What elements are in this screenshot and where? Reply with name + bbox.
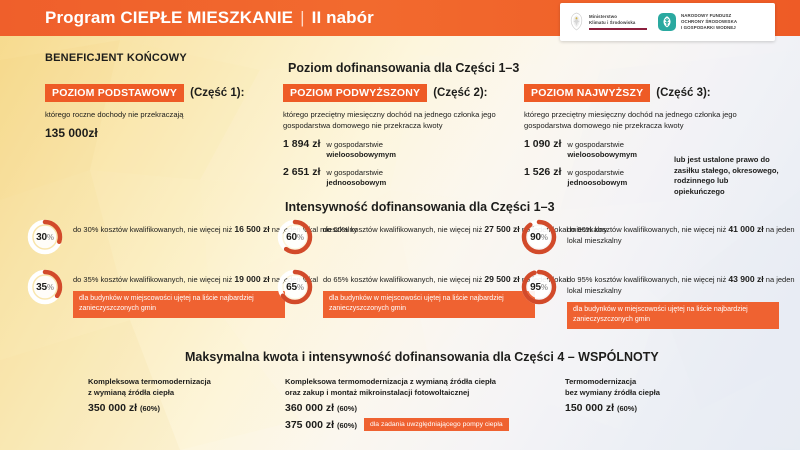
level3-amount-multi: 1 090 zł xyxy=(524,138,561,150)
intensity-text-95-pre: do 95% kosztów kwalifikowanych, nie więc… xyxy=(567,275,728,284)
part4-b-line1: Kompleksowa termomodernizacja z wymianą … xyxy=(285,376,555,387)
level2-single-line1: w gospodarstwie xyxy=(326,168,383,177)
level1-part-label: (Część 1): xyxy=(190,87,244,99)
level3-amount-row-multi: 1 090 zł w gospodarstwie wieloosobowymym xyxy=(524,138,674,159)
donut-chart-35: 35% xyxy=(26,268,64,306)
level3-multi-line1: w gospodarstwie xyxy=(567,140,624,149)
part4-b-amount1: 360 000 zł xyxy=(285,402,334,414)
nfosigw-tree-icon xyxy=(657,11,677,33)
part4-a-line1: Kompleksowa termomodernizacja xyxy=(88,376,278,387)
intensity-text-30-pre: do 30% kosztów kwalifikowanych, nie więc… xyxy=(73,225,234,234)
level2-multi-line1: w gospodarstwie xyxy=(326,140,383,149)
level3-alternative-note: lub jest ustalone prawo do zasiłku stałe… xyxy=(674,131,779,197)
donut-chart-60: 60% xyxy=(276,218,314,256)
level2-amount-single: 2 651 zł xyxy=(283,166,320,178)
level2-amount-multi-label: w gospodarstwie wieloosobowymym xyxy=(326,138,396,159)
level3-description: którego przeciętny miesięczny dochód na … xyxy=(524,110,779,131)
level3-amount-single: 1 526 zł xyxy=(524,166,561,178)
level3-badge-row: POZIOM NAJWYŻSZY(Część 3): xyxy=(524,84,779,102)
intensity-text-90: do 90% kosztów kwalifikowanych, nie więc… xyxy=(567,218,800,246)
part4-c-line1: Termomodernizacja xyxy=(565,376,765,387)
donut-value-65: 65 xyxy=(286,282,297,293)
donut-label-30: 30% xyxy=(26,218,64,256)
level3-badge: POZIOM NAJWYŻSZY xyxy=(524,84,650,102)
nfosigw-logo-block: NARODOWY FUNDUSZ OCHRONY ŚRODOWISKA I GO… xyxy=(657,11,737,33)
level2-multi-line2: wieloosobowymym xyxy=(326,150,396,159)
part4-b-value2: 375 000 zł (60%) xyxy=(285,419,357,431)
donut-chart-95: 95% xyxy=(520,268,558,306)
intensity-text-30-amount: 16 500 zł xyxy=(234,224,269,234)
intensity-tag-95: dla budynków w miejscowości ujętej na li… xyxy=(567,302,779,329)
beneficiary-heading: BENEFICJENT KOŃCOWY xyxy=(45,52,187,64)
level3-part-label: (Część 3): xyxy=(656,87,710,99)
donut-sign-30: % xyxy=(47,233,54,242)
donut-value-60: 60 xyxy=(286,232,297,243)
level2-amount-row-multi: 1 894 zł w gospodarstwie wieloosobowymym xyxy=(283,138,521,159)
donut-label-95: 95% xyxy=(520,268,558,306)
part4-a-percent: (60%) xyxy=(140,404,160,413)
part4-b-heatpump-tag: dla zadania uwzględniającego pompy ciepł… xyxy=(364,418,509,431)
donut-sign-90: % xyxy=(541,233,548,242)
part4-b-percent2: (60%) xyxy=(337,421,357,430)
ministry-logo-rule xyxy=(589,28,647,30)
level-column-part2: POZIOM PODWYŻSZONY(Część 2): którego prz… xyxy=(283,84,521,187)
intensity-text-90-pre: do 90% kosztów kwalifikowanych, nie więc… xyxy=(567,225,728,234)
level1-amount: 135 000zł xyxy=(45,126,280,140)
polish-eagle-icon xyxy=(568,11,585,33)
ministry-logo-line2: Klimatu i Środowiska xyxy=(589,20,647,26)
donut-value-35: 35 xyxy=(36,282,47,293)
header-title-main: Program CIEPŁE MIESZKANIE xyxy=(45,8,293,27)
part4-column-b: Kompleksowa termomodernizacja z wymianą … xyxy=(285,376,555,431)
level2-single-line2: jednoosobowym xyxy=(326,178,386,187)
part4-b-percent1: (60%) xyxy=(337,404,357,413)
donut-label-60: 60% xyxy=(276,218,314,256)
level2-amount-multi: 1 894 zł xyxy=(283,138,320,150)
section-title-intensity: Intensywność dofinansowania dla Części 1… xyxy=(285,200,555,214)
section-title-levels: Poziom dofinansowania dla Części 1–3 xyxy=(288,61,519,75)
level2-description: którego przeciętny miesięczny dochód na … xyxy=(283,110,521,131)
donut-chart-65: 65% xyxy=(276,268,314,306)
level2-amount-row-single: 2 651 zł w gospodarstwie jednoosobowym xyxy=(283,166,521,187)
level1-description: którego roczne dochody nie przekraczają xyxy=(45,110,280,121)
page-title: Program CIEPŁE MIESZKANIE|II nabór xyxy=(45,8,374,28)
donut-sign-95: % xyxy=(541,283,548,292)
nfosigw-logo-line3: I GOSPODARKI WODNEJ xyxy=(681,25,737,31)
level3-single-line2: jednoosobowym xyxy=(567,178,627,187)
donut-sign-60: % xyxy=(297,233,304,242)
part4-c-line2: bez wymiany źródła ciepła xyxy=(565,387,765,398)
intensity-text-60-pre: do 60% kosztów kwalifikowanych, nie więc… xyxy=(323,225,484,234)
level-column-part1: POZIOM PODSTAWOWY(Część 1): którego rocz… xyxy=(45,84,280,140)
header-title-separator: | xyxy=(293,8,312,28)
intensity-text-35-amount: 19 000 zł xyxy=(234,274,269,284)
intensity-text-95: do 95% kosztów kwalifikowanych, nie więc… xyxy=(567,268,800,329)
donut-label-35: 35% xyxy=(26,268,64,306)
donut-label-65: 65% xyxy=(276,268,314,306)
donut-chart-90: 90% xyxy=(520,218,558,256)
section-title-part4: Maksymalna kwota i intensywność dofinans… xyxy=(185,350,659,364)
part4-b-value2-row: 375 000 zł (60%) dla zadania uwzględniaj… xyxy=(285,418,555,431)
intensity-tag-65: dla budynków w miejscowości ujętej na li… xyxy=(323,291,535,318)
part4-b-amount2: 375 000 zł xyxy=(285,419,334,431)
part4-a-value: 350 000 zł (60%) xyxy=(88,402,278,414)
donut-sign-65: % xyxy=(297,283,304,292)
donut-value-30: 30 xyxy=(36,232,47,243)
ministry-logo-block: Ministerstwo Klimatu i Środowiska xyxy=(568,11,647,33)
donut-value-90: 90 xyxy=(530,232,541,243)
part4-b-value1: 360 000 zł (60%) xyxy=(285,402,555,414)
part4-c-amount: 150 000 zł xyxy=(565,402,614,414)
intensity-row-95: 95% do 95% kosztów kwalifikowanych, nie … xyxy=(520,268,800,329)
level3-single-line1: w gospodarstwie xyxy=(567,168,624,177)
part4-a-amount: 350 000 zł xyxy=(88,402,137,414)
part4-c-percent: (60%) xyxy=(617,404,637,413)
level1-badge: POZIOM PODSTAWOWY xyxy=(45,84,184,102)
level1-badge-row: POZIOM PODSTAWOWY(Część 1): xyxy=(45,84,280,102)
intensity-text-95-amount: 43 900 zł xyxy=(728,274,763,284)
donut-value-95: 95 xyxy=(530,282,541,293)
intensity-text-90-amount: 41 000 zł xyxy=(728,224,763,234)
level-column-part3: POZIOM NAJWYŻSZY(Część 3): którego przec… xyxy=(524,84,779,197)
level2-badge-row: POZIOM PODWYŻSZONY(Część 2): xyxy=(283,84,521,102)
donut-chart-30: 30% xyxy=(26,218,64,256)
intensity-row-90: 90% do 90% kosztów kwalifikowanych, nie … xyxy=(520,218,800,256)
level3-amount-multi-label: w gospodarstwie wieloosobowymym xyxy=(567,138,637,159)
level2-part-label: (Część 2): xyxy=(433,87,487,99)
level3-amount-row-single: 1 526 zł w gospodarstwie jednoosobowym xyxy=(524,166,674,187)
part4-c-value: 150 000 zł (60%) xyxy=(565,402,765,414)
header-title-sub: II nabór xyxy=(312,8,374,27)
donut-sign-35: % xyxy=(47,283,54,292)
intensity-tag-35: dla budynków w miejscowości ujętej na li… xyxy=(73,291,285,318)
level3-multi-line2: wieloosobowymym xyxy=(567,150,637,159)
intensity-text-60-amount: 27 500 zł xyxy=(484,224,519,234)
intensity-text-65-amount: 29 500 zł xyxy=(484,274,519,284)
donut-label-90: 90% xyxy=(520,218,558,256)
logo-card: Ministerstwo Klimatu i Środowiska NARODO… xyxy=(560,3,775,41)
part4-b-line2: oraz zakup i montaż mikroinstalacji foto… xyxy=(285,387,555,398)
intensity-text-65-pre: do 65% kosztów kwalifikowanych, nie więc… xyxy=(323,275,484,284)
part4-column-c: Termomodernizacja bez wymiany źródła cie… xyxy=(565,376,765,414)
intensity-row-35: 35% do 35% kosztów kwalifikowanych, nie … xyxy=(26,268,318,318)
level2-badge: POZIOM PODWYŻSZONY xyxy=(283,84,427,102)
part4-column-a: Kompleksowa termomodernizacja z wymianą … xyxy=(88,376,278,414)
level3-amount-single-label: w gospodarstwie jednoosobowym xyxy=(567,166,627,187)
part4-a-line2: z wymianą źródła ciepła xyxy=(88,387,278,398)
intensity-text-35-pre: do 35% kosztów kwalifikowanych, nie więc… xyxy=(73,275,234,284)
level2-amount-single-label: w gospodarstwie jednoosobowym xyxy=(326,166,386,187)
infographic-page: Program CIEPŁE MIESZKANIE|II nabór Minis… xyxy=(0,0,800,450)
